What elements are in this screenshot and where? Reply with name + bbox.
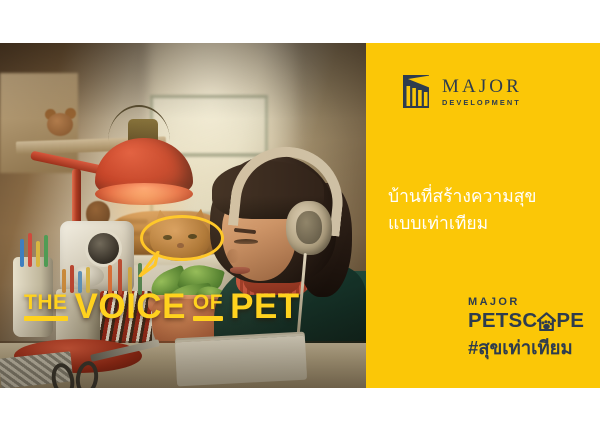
- screenshot-canvas: THE VOICE OF PET: [0, 0, 600, 440]
- advertisement-banner: THE VOICE OF PET: [0, 43, 600, 388]
- petscape-major-label: MAJOR: [468, 297, 594, 308]
- major-development-logo[interactable]: MAJOR DEVELOPMENT: [403, 75, 522, 108]
- headline-lockup: THE VOICE OF PET: [24, 289, 300, 324]
- pencil: [44, 235, 48, 267]
- headline-of-underline: [193, 316, 223, 321]
- headline-the-text: THE: [24, 291, 68, 314]
- major-logo-wordmark: MAJOR DEVELOPMENT: [442, 77, 522, 106]
- tagline-line-1: บ้านที่สร้างความสุข: [388, 183, 594, 210]
- pencil: [28, 233, 32, 267]
- girl-eye: [234, 239, 258, 244]
- house-paw-icon: [537, 312, 556, 331]
- pencil: [36, 241, 40, 267]
- yellow-message-panel: MAJOR DEVELOPMENT บ้านที่สร้างความสุข แบ…: [366, 43, 600, 388]
- headline-word-the: THE: [24, 292, 68, 324]
- headline-word-voice: VOICE: [75, 289, 186, 324]
- headline-of-text: OF: [193, 291, 223, 314]
- headline-the-underline: [24, 316, 68, 321]
- headline-word-pet: PET: [230, 289, 300, 324]
- petscape-hashtag: #สุขเท่าเทียม: [468, 338, 594, 358]
- petscape-wordmark: PETSC PE: [468, 311, 594, 332]
- petscape-text-part2: PE: [556, 311, 584, 332]
- petscape-text-part1: PETSC: [468, 311, 537, 332]
- headphones-earcup-pad: [296, 211, 322, 244]
- pencil: [20, 239, 24, 267]
- notebook: [175, 336, 307, 387]
- pillars-building-icon: [403, 75, 433, 108]
- girl-lips: [230, 267, 250, 274]
- camera-lens: [88, 233, 119, 264]
- major-logo-name: MAJOR: [442, 77, 522, 96]
- headline-word-of: OF: [193, 292, 223, 324]
- major-petscape-logo[interactable]: MAJOR PETSC PE #สุขเท่าเทียม: [468, 297, 594, 358]
- campaign-photo: THE VOICE OF PET: [0, 43, 366, 388]
- tagline-block: บ้านที่สร้างความสุข แบบเท่าเทียม: [388, 183, 594, 236]
- major-logo-subtitle: DEVELOPMENT: [442, 99, 522, 106]
- speech-bubble-tail: [138, 251, 160, 277]
- girl-nose: [227, 249, 239, 263]
- tagline-line-2: แบบเท่าเทียม: [388, 210, 594, 237]
- teddy-bear-head: [47, 113, 73, 136]
